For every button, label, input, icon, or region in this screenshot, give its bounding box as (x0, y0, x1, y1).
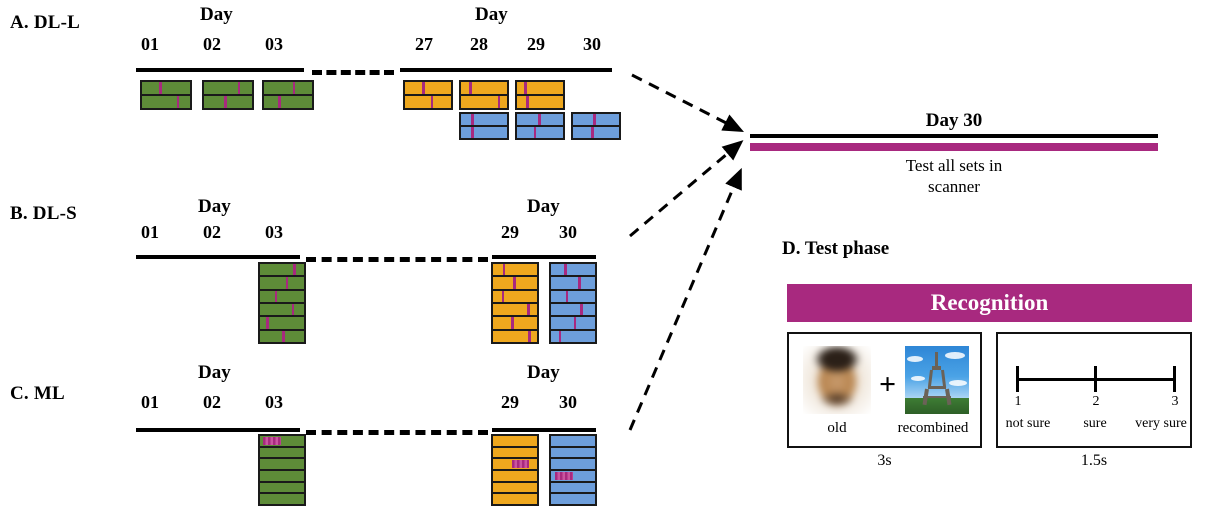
rating-number-2: 2 (1084, 394, 1108, 410)
rating-card: 1 2 3 not sure sure very sure (996, 332, 1192, 448)
panel-b-day-02: 02 (192, 222, 232, 243)
rating-tick-2 (1094, 366, 1097, 392)
panel-b-day-01: 01 (130, 222, 170, 243)
brick-row (264, 94, 312, 108)
brick-row (264, 82, 312, 94)
block-orange-day27 (403, 80, 453, 110)
block-green-day03-ml (258, 434, 306, 506)
panel-c-day-03: 03 (254, 392, 294, 413)
arrow-from-panel-b (630, 143, 740, 236)
brick-row (461, 82, 507, 94)
block-orange-day29-dls (491, 262, 539, 344)
brick-row (405, 82, 451, 94)
brick-row (260, 302, 304, 315)
brick-row (551, 302, 595, 315)
rating-duration: 1.5s (996, 452, 1192, 470)
panel-b-timeline-left (136, 255, 300, 259)
panel-a-day-30: 30 (572, 34, 612, 55)
panel-c-day-word-left: Day (198, 362, 231, 384)
ml-row (260, 481, 304, 493)
ml-row (551, 436, 595, 446)
plus-sign: + (879, 370, 896, 400)
ml-row (493, 481, 537, 493)
panel-a-timeline-left (136, 68, 304, 72)
ml-row (260, 492, 304, 504)
panel-c-label: C. ML (10, 383, 65, 405)
panel-b-day-30: 30 (548, 222, 588, 243)
panel-d-label: D. Test phase (782, 238, 889, 260)
panel-c-timeline-right (492, 428, 596, 432)
brick-row (260, 275, 304, 288)
old-face-image (803, 346, 871, 414)
rating-label-sure: sure (1070, 416, 1120, 432)
ml-row (493, 436, 537, 446)
ml-row (551, 481, 595, 493)
block-orange-day28 (459, 80, 509, 110)
brick-row (204, 94, 252, 108)
brick-row (493, 329, 537, 342)
ml-row (551, 446, 595, 458)
block-green-day03-dls (258, 262, 306, 344)
rating-tick-3 (1173, 366, 1176, 392)
ml-patch (512, 460, 529, 468)
ml-row (260, 457, 304, 469)
day30-rule (750, 134, 1158, 138)
ml-patch (555, 472, 573, 480)
brick-row (461, 125, 507, 138)
block-green-day03 (262, 80, 314, 110)
brick-row (517, 94, 563, 108)
rating-label-very-sure: very sure (1126, 416, 1196, 432)
ml-row (551, 457, 595, 469)
brick-row (493, 275, 537, 288)
panel-b-day-word-left: Day (198, 196, 231, 218)
panel-b-label: B. DL-S (10, 203, 77, 225)
block-blue-day28 (459, 112, 509, 140)
day30-caption-line1: Test all sets in (750, 155, 1158, 176)
brick-row (493, 315, 537, 328)
recognition-banner: Recognition (787, 284, 1192, 322)
block-orange-day29 (515, 80, 565, 110)
brick-row (204, 82, 252, 94)
brick-row (142, 94, 190, 108)
ml-row (493, 457, 537, 469)
day30-magenta-bar (750, 143, 1158, 151)
old-caption: old (797, 420, 877, 437)
ml-row (493, 446, 537, 458)
block-blue-day30-dls (549, 262, 597, 344)
ml-row (260, 446, 304, 458)
brick-row (405, 94, 451, 108)
panel-a-day-01: 01 (130, 34, 170, 55)
arrow-from-panel-a (632, 75, 740, 130)
brick-row (493, 289, 537, 302)
block-green-day01 (140, 80, 192, 110)
panel-c-day-01: 01 (130, 392, 170, 413)
ml-row (551, 469, 595, 481)
brick-row (493, 302, 537, 315)
panel-b-day-word-right: Day (527, 196, 560, 218)
brick-row (573, 125, 619, 138)
panel-a-day-word-left: Day (200, 4, 233, 26)
panel-c-day-02: 02 (192, 392, 232, 413)
brick-row (551, 289, 595, 302)
block-blue-day29 (515, 112, 565, 140)
ml-row (551, 492, 595, 504)
brick-row (260, 264, 304, 275)
brick-row (260, 329, 304, 342)
brick-row (551, 329, 595, 342)
block-blue-day30 (571, 112, 621, 140)
brick-row (517, 114, 563, 125)
brick-row (551, 275, 595, 288)
panel-a-day-02: 02 (192, 34, 232, 55)
brick-row (142, 82, 190, 94)
panel-c-day-word-right: Day (527, 362, 560, 384)
brick-row (461, 94, 507, 108)
brick-row (517, 125, 563, 138)
ml-row (493, 492, 537, 504)
recombined-scene-image (905, 346, 969, 414)
brick-row (573, 114, 619, 125)
block-green-day02 (202, 80, 254, 110)
brick-row (551, 264, 595, 275)
block-orange-day29-ml (491, 434, 539, 506)
panel-b-day-03: 03 (254, 222, 294, 243)
panel-a-day-word-right: Day (475, 4, 508, 26)
panel-a-timeline-dashed (312, 70, 394, 75)
stimulus-card: + old recombined (787, 332, 982, 448)
brick-row (260, 315, 304, 328)
arrow-from-panel-c (630, 172, 740, 430)
panel-b-timeline-dashed (306, 257, 488, 262)
brick-row (517, 82, 563, 94)
panel-a-day-27: 27 (404, 34, 444, 55)
brick-row (461, 114, 507, 125)
ml-row (260, 469, 304, 481)
panel-a-timeline-right (400, 68, 612, 72)
panel-c-timeline-dashed (306, 430, 488, 435)
rating-tick-1 (1016, 366, 1019, 392)
panel-c-day-30: 30 (548, 392, 588, 413)
ml-patch (263, 437, 281, 445)
rating-number-3: 3 (1163, 394, 1187, 410)
stimulus-duration: 3s (787, 452, 982, 470)
panel-a-label: A. DL-L (10, 12, 80, 34)
panel-b-timeline-right (492, 255, 596, 259)
rating-number-1: 1 (1006, 394, 1030, 410)
panel-b-day-29: 29 (490, 222, 530, 243)
brick-row (260, 289, 304, 302)
panel-c-timeline-left (136, 428, 300, 432)
brick-row (493, 264, 537, 275)
day30-caption-line2: scanner (750, 176, 1158, 197)
panel-a-day-28: 28 (459, 34, 499, 55)
block-blue-day30-ml (549, 434, 597, 506)
ml-row (493, 469, 537, 481)
brick-row (551, 315, 595, 328)
day30-title: Day 30 (750, 110, 1158, 132)
panel-a-day-03: 03 (254, 34, 294, 55)
ml-row (260, 436, 304, 446)
panel-c-day-29: 29 (490, 392, 530, 413)
rating-label-not-sure: not sure (996, 416, 1060, 432)
recombined-caption: recombined (887, 420, 979, 437)
day30-caption: Test all sets in scanner (750, 155, 1158, 198)
panel-a-day-29: 29 (516, 34, 556, 55)
